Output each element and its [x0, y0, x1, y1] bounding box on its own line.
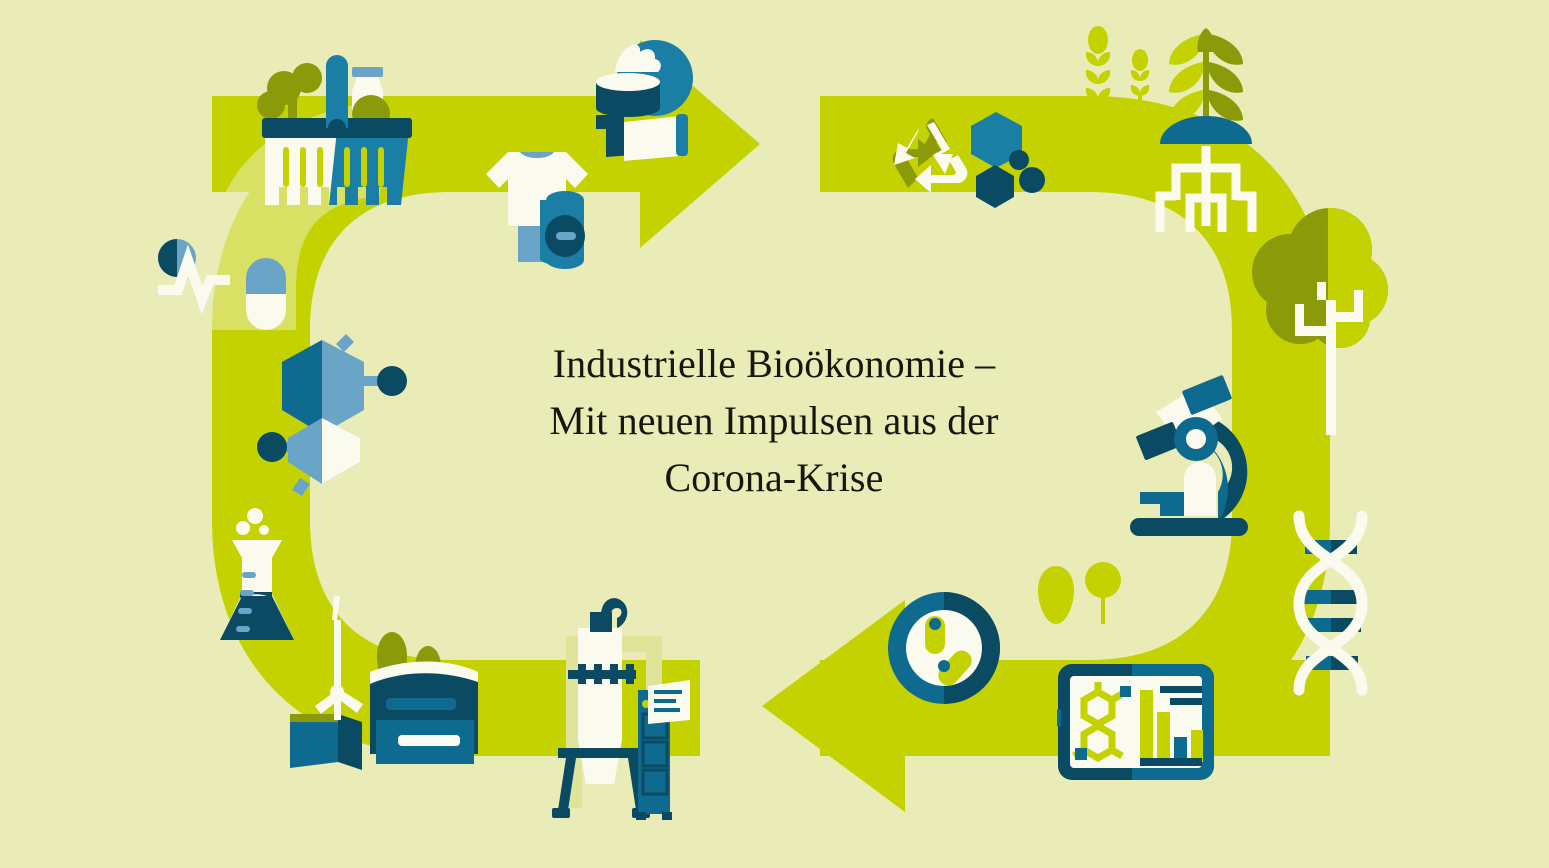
dna-helix-icon [1299, 516, 1362, 690]
bioreactor-icon [552, 598, 690, 820]
shopping-basket-icon [257, 55, 412, 205]
pill-capsule-icon [246, 258, 286, 330]
small-bushes-decoration [1038, 562, 1121, 624]
plant-roots-icon [1160, 28, 1252, 232]
biorefinery-icon [290, 596, 478, 770]
cosmetics-cream-icon [596, 40, 693, 161]
microscope-icon [1130, 375, 1248, 536]
recycling-icon [893, 118, 968, 193]
petri-dish-icon [888, 592, 1000, 704]
flask-icon [220, 508, 294, 640]
molecule-bond-icon [257, 334, 407, 496]
tablet-analysis-icon [1057, 664, 1214, 780]
tree-icon [1252, 208, 1388, 435]
wheat-stalks-icon [1086, 26, 1149, 150]
infographic-canvas: Industrielle Bioökonomie – Mit neuen Imp… [0, 0, 1549, 868]
icon-layer [0, 0, 1549, 868]
molecule-hex-icon [971, 112, 1045, 208]
tshirt-textile-icon [486, 152, 588, 269]
health-pulse-icon [158, 239, 230, 300]
